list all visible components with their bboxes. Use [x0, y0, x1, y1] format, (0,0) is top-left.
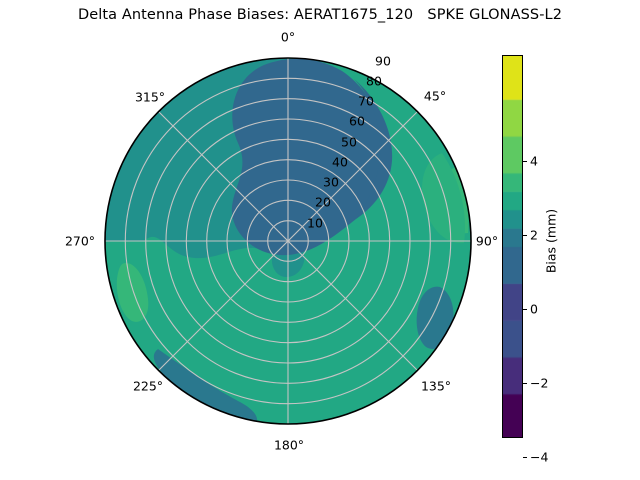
theta-tick-label-0: 0° — [281, 30, 295, 45]
colorbar-ticklabel-2: 2 — [530, 228, 538, 243]
polar-plot-svg — [104, 57, 472, 425]
theta-tick-label-225: 225° — [133, 379, 163, 394]
colorbar-tick-m4 — [523, 457, 527, 458]
r-tick-label-90: 90 — [375, 54, 391, 69]
colorbar-ticklabel-m4: −4 — [530, 450, 548, 465]
r-tick-label-70: 70 — [358, 94, 374, 109]
theta-tick-label-270: 270° — [65, 234, 95, 249]
r-tick-label-50: 50 — [341, 135, 357, 150]
r-tick-label-30: 30 — [323, 175, 339, 190]
colorbar-ticklabel-0: 0 — [530, 302, 538, 317]
polar-axes: 10 20 30 40 50 60 70 80 90 — [104, 57, 472, 425]
colorbar-axis-label: Bias (mm) — [544, 209, 559, 273]
colorbar-gradient — [502, 55, 523, 438]
r-tick-label-80: 80 — [366, 74, 382, 89]
colorbar-tick-0 — [523, 309, 527, 310]
colorbar-tick-2 — [523, 235, 527, 236]
figure-canvas: Delta Antenna Phase Biases: AERAT1675_12… — [0, 0, 640, 480]
colorbar-ticklabel-m2: −2 — [530, 376, 548, 391]
colorbar-ticklabel-4: 4 — [530, 154, 538, 169]
theta-tick-label-90: 90° — [476, 234, 498, 249]
colorbar-tick-m2 — [523, 383, 527, 384]
r-tick-label-40: 40 — [332, 155, 348, 170]
polar-grid-spokes — [105, 58, 471, 424]
r-tick-label-60: 60 — [349, 114, 365, 129]
theta-tick-label-315: 315° — [135, 90, 165, 105]
colorbar: 4 2 0 −2 −4 — [502, 55, 523, 438]
page-title: Delta Antenna Phase Biases: AERAT1675_12… — [0, 7, 640, 23]
theta-tick-label-180: 180° — [274, 438, 304, 453]
colorbar-tick-4 — [523, 161, 527, 162]
r-tick-label-10: 10 — [307, 216, 323, 231]
theta-tick-label-135: 135° — [421, 379, 451, 394]
theta-tick-label-45: 45° — [424, 89, 446, 104]
r-tick-label-20: 20 — [315, 195, 331, 210]
